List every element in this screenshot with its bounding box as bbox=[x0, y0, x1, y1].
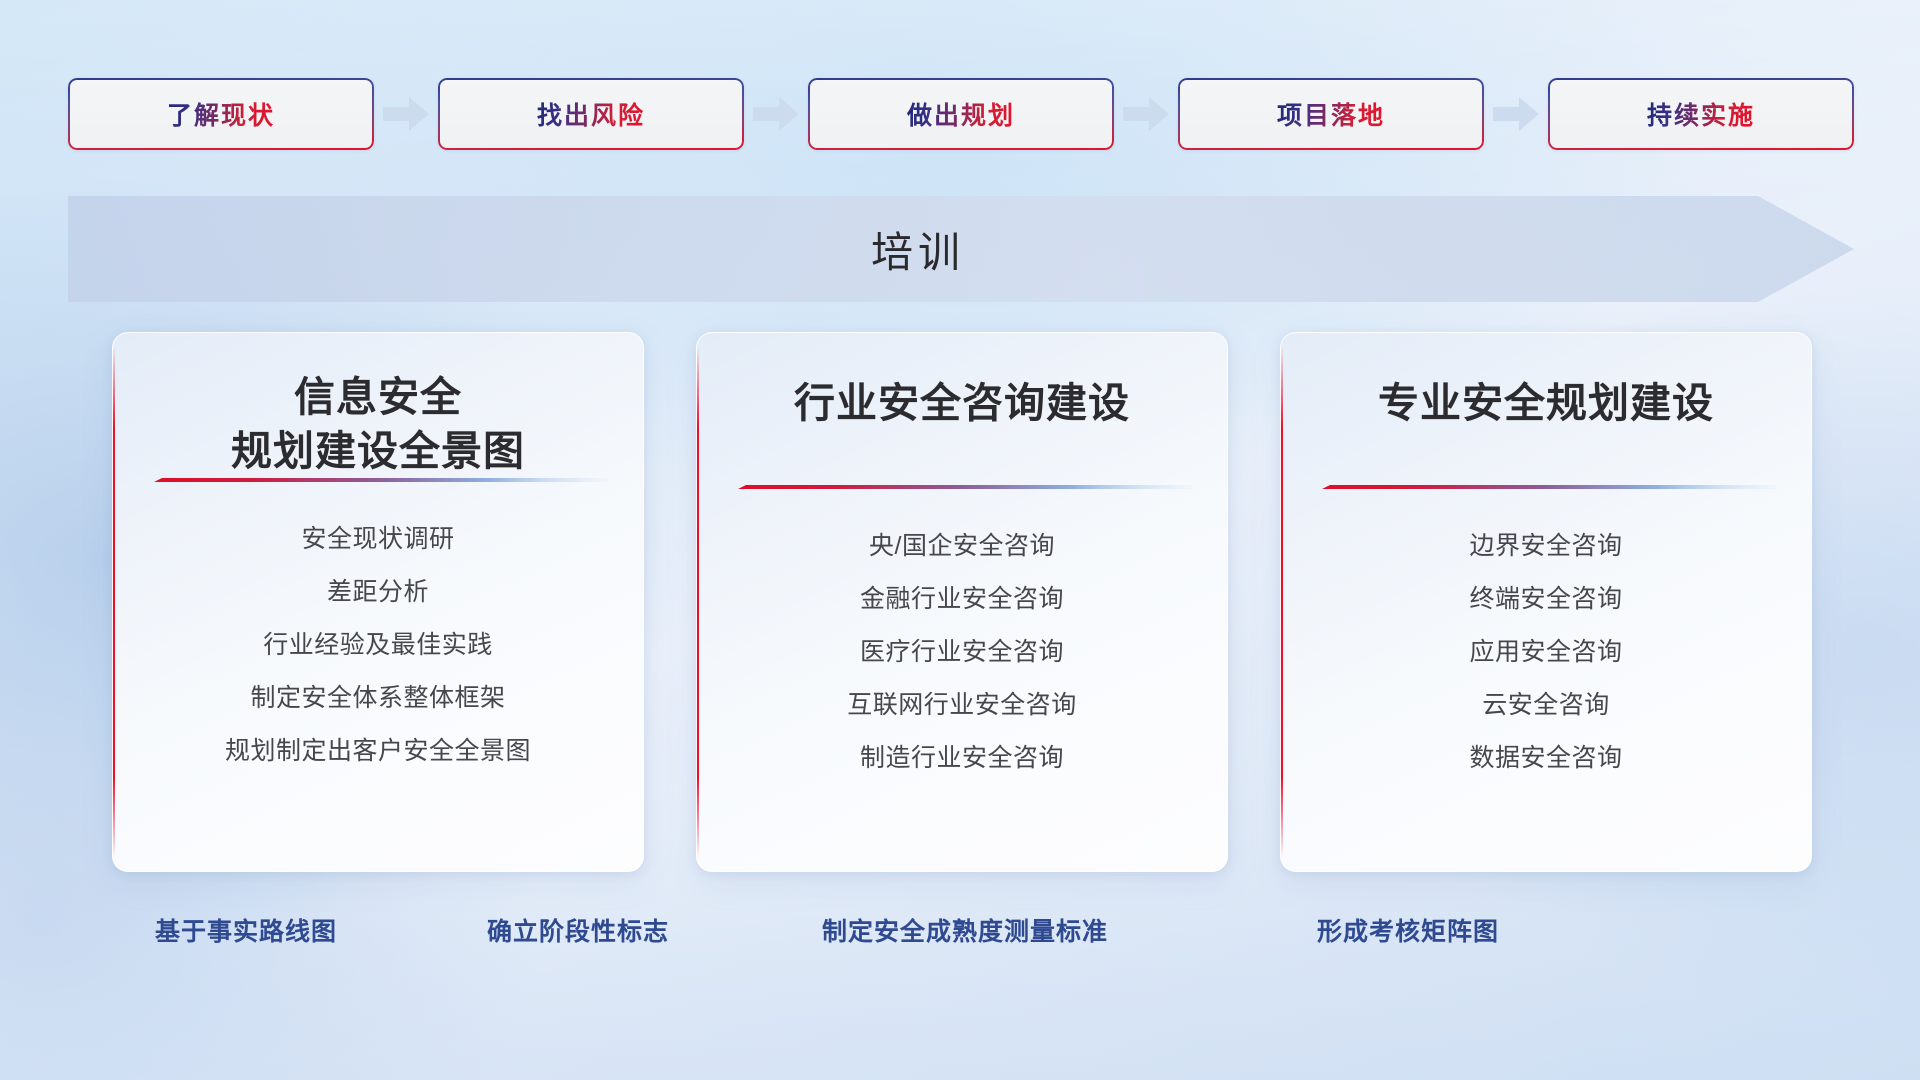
list-item: 差距分析 bbox=[143, 566, 613, 619]
footer-label-1: 基于事实路线图 bbox=[155, 912, 337, 948]
list-item: 边界安全咨询 bbox=[1311, 520, 1781, 573]
list-item: 行业经验及最佳实践 bbox=[143, 619, 613, 672]
footer-label-4: 形成考核矩阵图 bbox=[1317, 912, 1499, 948]
step-box-5[interactable]: 持续实施 bbox=[1548, 78, 1854, 150]
card-2-accent-bar bbox=[696, 346, 699, 858]
card-2-title-line1: 行业安全咨询建设 bbox=[727, 376, 1197, 430]
card-1-item-list: 安全现状调研 差距分析 行业经验及最佳实践 制定安全体系整体框架 规划制定出客户… bbox=[143, 485, 613, 778]
step-label-2: 找出风险 bbox=[537, 96, 645, 132]
card-3-title: 专业安全规划建设 bbox=[1311, 332, 1781, 430]
list-item: 金融行业安全咨询 bbox=[727, 573, 1197, 626]
card-2-item-list: 央/国企安全咨询 金融行业安全咨询 医疗行业安全咨询 互联网行业安全咨询 制造行… bbox=[727, 492, 1197, 785]
card-3-title-line1: 专业安全规划建设 bbox=[1311, 376, 1781, 430]
list-item: 规划制定出客户安全全景图 bbox=[143, 725, 613, 778]
training-banner: 培训 bbox=[68, 196, 1854, 302]
list-item: 云安全咨询 bbox=[1311, 679, 1781, 732]
card-2-divider bbox=[732, 485, 1192, 492]
card-3-divider bbox=[1316, 485, 1776, 492]
card-2-title: 行业安全咨询建设 bbox=[727, 332, 1197, 430]
footer-label-3: 制定安全成熟度测量标准 bbox=[822, 912, 1108, 948]
step-box-1[interactable]: 了解现状 bbox=[68, 78, 374, 150]
list-item: 制定安全体系整体框架 bbox=[143, 672, 613, 725]
arrow-right-icon-4 bbox=[1484, 78, 1548, 150]
card-3-item-list: 边界安全咨询 终端安全咨询 应用安全咨询 云安全咨询 数据安全咨询 bbox=[1311, 492, 1781, 785]
footer-label-2: 确立阶段性标志 bbox=[487, 912, 669, 948]
step-box-3[interactable]: 做出规划 bbox=[808, 78, 1114, 150]
list-item: 数据安全咨询 bbox=[1311, 732, 1781, 785]
card-1-accent-bar bbox=[112, 346, 115, 858]
card-1[interactable]: 信息安全 规划建设全景图 bbox=[112, 332, 644, 872]
cards-row: 信息安全 规划建设全景图 bbox=[112, 332, 1812, 872]
card-1-divider bbox=[148, 478, 608, 485]
list-item: 应用安全咨询 bbox=[1311, 626, 1781, 679]
step-box-4[interactable]: 项目落地 bbox=[1178, 78, 1484, 150]
list-item: 终端安全咨询 bbox=[1311, 573, 1781, 626]
list-item: 医疗行业安全咨询 bbox=[727, 626, 1197, 679]
arrow-right-icon-3 bbox=[1114, 78, 1178, 150]
card-1-title-line1: 信息安全 bbox=[143, 370, 613, 424]
step-label-5: 持续实施 bbox=[1647, 96, 1755, 132]
step-label-1: 了解现状 bbox=[167, 96, 275, 132]
card-3-accent-bar bbox=[1280, 346, 1283, 858]
card-2[interactable]: 行业安全咨询建设 央/国 bbox=[696, 332, 1228, 872]
footer-label-row: 基于事实路线图 确立阶段性标志 制定安全成熟度测量标准 形成考核矩阵图 bbox=[0, 912, 1920, 958]
card-3[interactable]: 专业安全规划建设 边界安 bbox=[1280, 332, 1812, 872]
arrow-right-icon-1 bbox=[374, 78, 438, 150]
list-item: 制造行业安全咨询 bbox=[727, 732, 1197, 785]
list-item: 央/国企安全咨询 bbox=[727, 520, 1197, 573]
slide-canvas: 了解现状 找出风险 做出规划 项目落地 bbox=[0, 0, 1920, 1080]
banner-title: 培训 bbox=[68, 196, 1768, 302]
arrow-right-icon-2 bbox=[744, 78, 808, 150]
step-box-2[interactable]: 找出风险 bbox=[438, 78, 744, 150]
list-item: 安全现状调研 bbox=[143, 513, 613, 566]
card-1-title-line2: 规划建设全景图 bbox=[143, 424, 613, 478]
list-item: 互联网行业安全咨询 bbox=[727, 679, 1197, 732]
step-label-3: 做出规划 bbox=[907, 96, 1015, 132]
process-step-row: 了解现状 找出风险 做出规划 项目落地 bbox=[68, 78, 1854, 150]
step-label-4: 项目落地 bbox=[1277, 96, 1385, 132]
card-1-title: 信息安全 规划建设全景图 bbox=[143, 332, 613, 478]
